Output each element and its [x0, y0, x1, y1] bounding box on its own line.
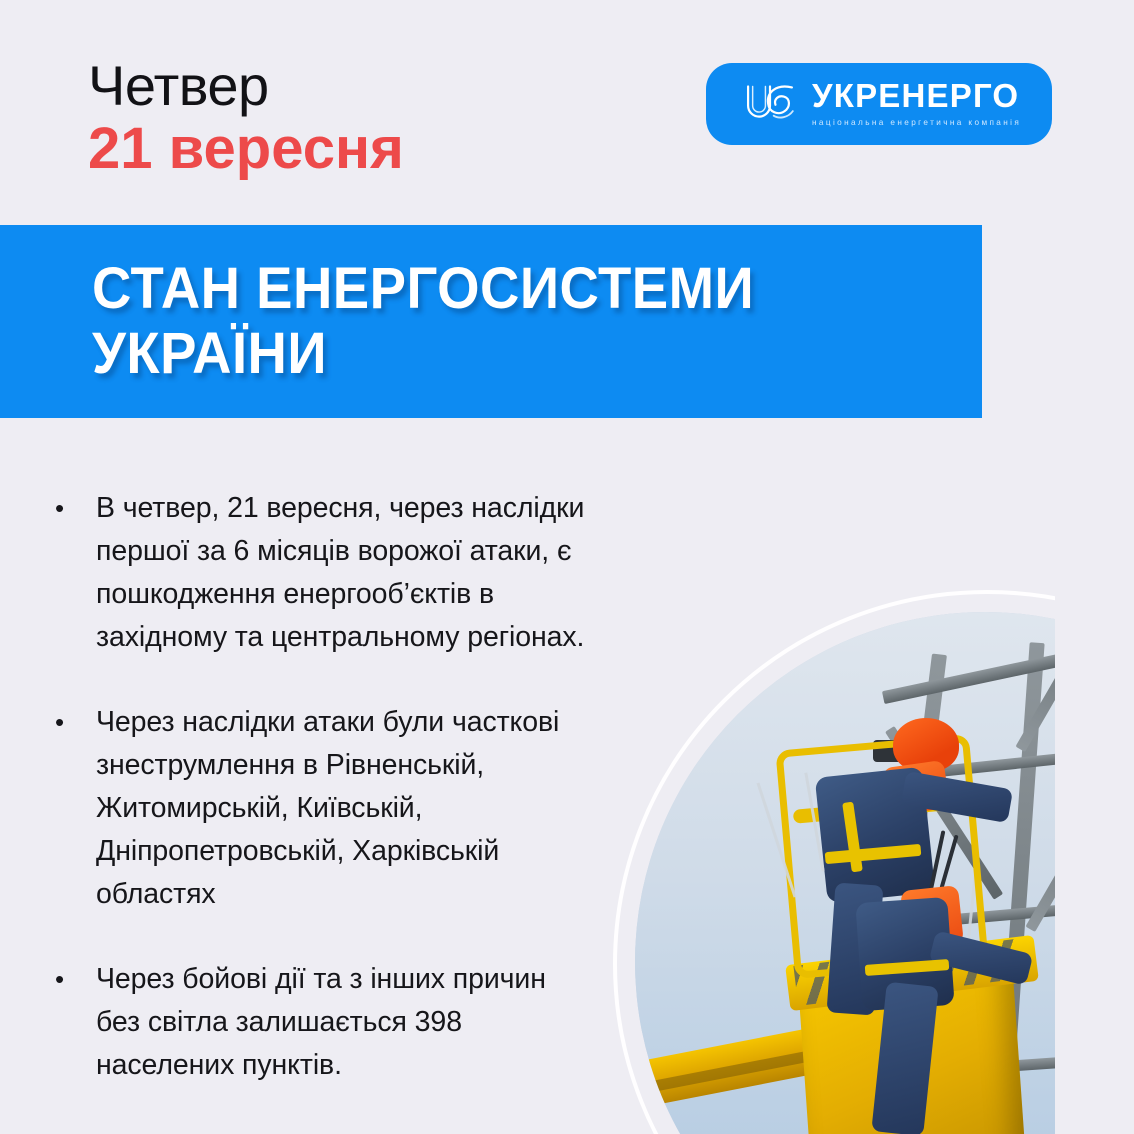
list-item: • Через наслідки атаки були часткові зне… [48, 701, 688, 916]
weekday-label: Четвер [88, 58, 404, 114]
title-banner: СТАН ЕНЕРГОСИСТЕМИ УКРАЇНИ [0, 225, 982, 418]
photo-illustration [635, 612, 1134, 1134]
concrete-pole [1073, 670, 1134, 1134]
logo-wordmark: УКРЕНЕРГО [812, 79, 1021, 112]
header-date-block: Четвер 21 вересня [88, 58, 404, 178]
bullet-text: Через наслідки атаки були часткові знест… [96, 701, 688, 916]
list-item: • В четвер, 21 вересня, через наслідки п… [48, 487, 688, 659]
list-item: • Через бойові дії та з інших причин без… [48, 958, 688, 1087]
bullet-text: В четвер, 21 вересня, через наслідки пер… [96, 487, 688, 659]
poster-canvas: Четвер 21 вересня УКРЕНЕРГО Національна … [0, 0, 1134, 1134]
bullet-text: Через бойові дії та з інших причин без с… [96, 958, 688, 1087]
ukrenergo-monogram-icon [742, 81, 798, 123]
bullet-marker-icon: • [48, 701, 96, 744]
bullet-marker-icon: • [48, 958, 96, 1001]
bullet-list: • В четвер, 21 вересня, через наслідки п… [48, 487, 688, 1129]
logo-text-group: УКРЕНЕРГО Національна енергетична компан… [812, 79, 1021, 127]
bullet-marker-icon: • [48, 487, 96, 530]
photo-circle [635, 612, 1134, 1134]
ukrenergo-logo-badge[interactable]: УКРЕНЕРГО Національна енергетична компан… [706, 63, 1052, 145]
tower-crossbeam [882, 629, 1134, 704]
page-title: СТАН ЕНЕРГОСИСТЕМИ УКРАЇНИ [92, 257, 754, 387]
date-label: 21 вересня [88, 120, 404, 178]
logo-subtitle: Національна енергетична компанія [812, 119, 1021, 127]
